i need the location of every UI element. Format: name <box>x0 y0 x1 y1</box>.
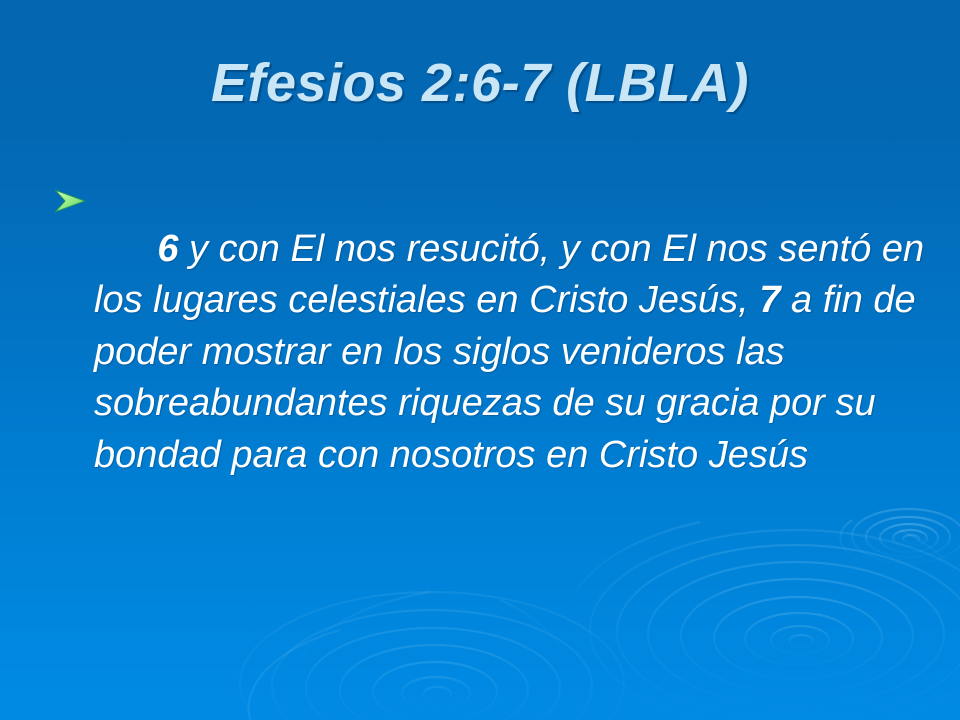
slide-title-block: Efesios 2:6-7 (LBLA) <box>0 52 960 114</box>
large-ripple <box>570 522 960 720</box>
medium-ripple-center <box>240 592 624 720</box>
faint-ripple-arc <box>249 630 340 720</box>
verse-number-7: 7 <box>759 279 780 321</box>
verse-number-6: 6 <box>157 228 178 270</box>
green-arrowhead-bullet-icon <box>52 186 92 221</box>
slide-body-block: 6 y con El nos resucitó, y con El nos se… <box>52 172 932 533</box>
verse-text: 6 y con El nos resucitó, y con El nos se… <box>94 172 932 533</box>
verse-spacer <box>749 279 760 321</box>
page-title: Efesios 2:6-7 (LBLA) <box>211 52 749 114</box>
presentation-slide: Efesios 2:6-7 (LBLA) 6 y con El nos resu… <box>0 0 960 720</box>
